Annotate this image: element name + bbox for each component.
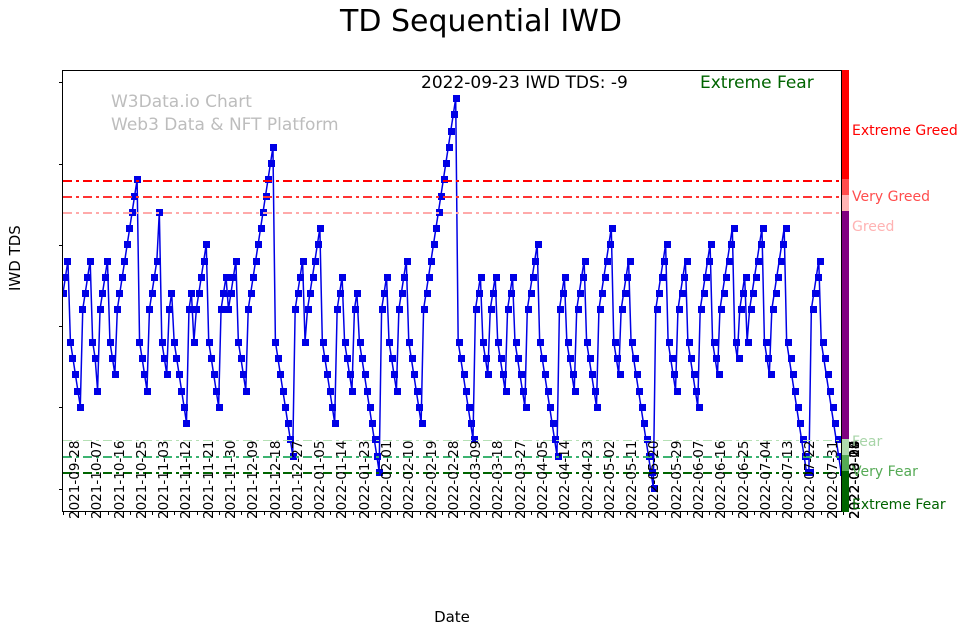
data-point (446, 144, 453, 151)
data-point (119, 274, 126, 281)
x-tick-mark (197, 511, 198, 515)
data-point (812, 290, 819, 297)
data-point (84, 274, 91, 281)
data-point (302, 339, 309, 346)
data-point (344, 355, 351, 362)
data-point (567, 355, 574, 362)
data-point (173, 355, 180, 362)
data-point (721, 290, 728, 297)
data-point (146, 306, 153, 313)
data-point (830, 404, 837, 411)
data-point (240, 371, 247, 378)
data-point (485, 371, 492, 378)
data-point (629, 339, 636, 346)
data-point (693, 388, 700, 395)
data-point (426, 274, 433, 281)
data-point (619, 306, 626, 313)
data-point (827, 388, 834, 395)
data-point (773, 290, 780, 297)
data-point (622, 290, 629, 297)
data-point (94, 388, 101, 395)
data-point (686, 339, 693, 346)
data-point (748, 306, 755, 313)
data-point (114, 306, 121, 313)
data-point (775, 274, 782, 281)
data-point (817, 258, 824, 265)
data-point (87, 258, 94, 265)
data-point (159, 339, 166, 346)
data-point (339, 274, 346, 281)
x-tick-mark (330, 511, 331, 515)
colorbar-segment (842, 471, 849, 512)
data-point (448, 128, 455, 135)
data-point (394, 388, 401, 395)
data-point (703, 274, 710, 281)
data-point (270, 144, 277, 151)
data-point (530, 274, 537, 281)
x-tick-label: 2022-02-19 (424, 441, 440, 519)
x-tick-label: 2022-01-14 (334, 441, 350, 519)
x-tick-mark (620, 511, 621, 515)
data-point (191, 339, 198, 346)
data-point (523, 404, 530, 411)
data-point (624, 274, 631, 281)
x-tick-mark (642, 511, 643, 515)
x-tick-mark (353, 511, 354, 515)
data-point (201, 258, 208, 265)
data-point (69, 355, 76, 362)
data-point (532, 258, 539, 265)
data-point (656, 290, 663, 297)
y-tick-mark (59, 489, 63, 490)
data-point (580, 274, 587, 281)
data-point (161, 355, 168, 362)
data-point (369, 420, 376, 427)
x-tick-mark (174, 511, 175, 515)
x-tick-mark (420, 511, 421, 515)
data-point (498, 355, 505, 362)
data-point (765, 355, 772, 362)
data-point (419, 420, 426, 427)
data-point (428, 258, 435, 265)
x-tick-label: 2022-03-09 (468, 441, 484, 519)
data-point (820, 339, 827, 346)
data-point (168, 290, 175, 297)
data-point (602, 274, 609, 281)
x-tick-mark (665, 511, 666, 515)
data-point (433, 225, 440, 232)
data-point (367, 404, 374, 411)
data-point (406, 339, 413, 346)
data-point (681, 274, 688, 281)
data-point (243, 388, 250, 395)
data-point (500, 371, 507, 378)
data-point (141, 371, 148, 378)
data-point (315, 241, 322, 248)
data-point (268, 160, 275, 167)
x-tick-mark (308, 511, 309, 515)
x-tick-label: 2022-05-29 (669, 441, 685, 519)
x-tick-mark (130, 511, 131, 515)
data-point (718, 306, 725, 313)
x-tick-label: 2022-05-20 (646, 441, 662, 519)
x-tick-label: 2022-05-11 (624, 441, 640, 519)
data-point (352, 306, 359, 313)
data-point (676, 306, 683, 313)
x-tick-label: 2022-02-10 (401, 441, 417, 519)
data-point (332, 420, 339, 427)
x-tick-label: 2022-07-04 (758, 441, 774, 519)
data-point (320, 339, 327, 346)
data-point (337, 290, 344, 297)
data-point (176, 371, 183, 378)
data-point (515, 355, 522, 362)
data-point (614, 355, 621, 362)
data-point (468, 420, 475, 427)
colorbar-segment (842, 439, 849, 455)
data-point (357, 339, 364, 346)
data-point (364, 388, 371, 395)
data-point (208, 355, 215, 362)
data-point (503, 388, 510, 395)
data-point (359, 355, 366, 362)
data-point (334, 306, 341, 313)
data-point (797, 420, 804, 427)
x-tick-label: 2022-03-27 (513, 441, 529, 519)
x-tick-label: 2021-11-12 (178, 441, 194, 519)
data-point (545, 388, 552, 395)
data-point (181, 404, 188, 411)
data-point (233, 258, 240, 265)
data-point (144, 388, 151, 395)
x-tick-mark (776, 511, 777, 515)
data-point (599, 290, 606, 297)
data-point (285, 420, 292, 427)
data-point (825, 371, 832, 378)
x-tick-label: 2021-12-27 (290, 441, 306, 519)
data-point (535, 241, 542, 248)
data-point (463, 388, 470, 395)
data-point (126, 225, 133, 232)
x-tick-label: 2022-05-02 (602, 441, 618, 519)
data-point (478, 274, 485, 281)
data-point (684, 258, 691, 265)
data-point (706, 258, 713, 265)
x-tick-mark (241, 511, 242, 515)
data-point (409, 355, 416, 362)
x-tick-mark (264, 511, 265, 515)
data-point (661, 258, 668, 265)
data-point (107, 339, 114, 346)
page-title: TD Sequential IWD (0, 4, 962, 39)
data-point (758, 241, 765, 248)
data-point (151, 274, 158, 281)
data-point (473, 306, 480, 313)
data-point (97, 306, 104, 313)
data-point (354, 290, 361, 297)
data-point (396, 306, 403, 313)
data-point (632, 355, 639, 362)
data-point (63, 274, 69, 281)
data-point (109, 355, 116, 362)
data-point (280, 388, 287, 395)
data-point (755, 258, 762, 265)
data-point (654, 306, 661, 313)
x-tick-label: 2022-02-28 (446, 441, 462, 519)
data-point (666, 339, 673, 346)
x-tick-mark (108, 511, 109, 515)
x-tick-mark (709, 511, 710, 515)
data-point (763, 339, 770, 346)
data-point (736, 355, 743, 362)
data-point (250, 274, 257, 281)
data-point (617, 371, 624, 378)
data-point (124, 241, 131, 248)
data-point (560, 290, 567, 297)
data-point (456, 339, 463, 346)
data-point (451, 111, 458, 118)
x-tick-label: 2021-09-28 (67, 441, 83, 519)
data-point (639, 404, 646, 411)
data-point (64, 258, 71, 265)
data-point (778, 258, 785, 265)
data-point (362, 371, 369, 378)
data-point (557, 306, 564, 313)
data-point (238, 355, 245, 362)
x-tick-label: 2021-10-16 (112, 441, 128, 519)
x-tick-label: 2022-04-05 (535, 441, 551, 519)
data-point (701, 290, 708, 297)
data-point (788, 355, 795, 362)
data-point (72, 371, 79, 378)
data-point (612, 339, 619, 346)
data-point (547, 404, 554, 411)
x-tick-label: 2022-04-14 (557, 441, 573, 519)
data-point (431, 241, 438, 248)
data-point (312, 258, 319, 265)
data-point (218, 306, 225, 313)
x-tick-label: 2022-07-31 (825, 441, 841, 519)
zone-label-fear: Fear (852, 434, 882, 450)
data-point (743, 274, 750, 281)
data-point (510, 274, 517, 281)
y-tick-mark (59, 326, 63, 327)
data-point (542, 371, 549, 378)
data-point (711, 339, 718, 346)
data-point (716, 371, 723, 378)
data-point (305, 306, 312, 313)
data-point (112, 371, 119, 378)
x-tick-mark (576, 511, 577, 515)
data-point (466, 404, 473, 411)
x-tick-label: 2021-11-21 (201, 441, 217, 519)
x-tick-mark (531, 511, 532, 515)
y-tick-mark (59, 407, 63, 408)
data-point (795, 404, 802, 411)
data-point (604, 258, 611, 265)
data-point (411, 371, 418, 378)
data-point (253, 258, 260, 265)
data-point (136, 339, 143, 346)
data-point (575, 306, 582, 313)
data-point (198, 274, 205, 281)
data-point (698, 306, 705, 313)
data-point (708, 241, 715, 248)
data-point (669, 355, 676, 362)
data-point (255, 241, 262, 248)
x-tick-mark (152, 511, 153, 515)
data-point (307, 290, 314, 297)
data-point (171, 339, 178, 346)
data-point (342, 339, 349, 346)
data-point (733, 339, 740, 346)
data-point (206, 339, 213, 346)
data-point (740, 290, 747, 297)
data-point (258, 225, 265, 232)
x-tick-label: 2022-01-05 (312, 441, 328, 519)
data-point (483, 355, 490, 362)
data-point (381, 290, 388, 297)
data-point (67, 339, 74, 346)
data-point (193, 306, 200, 313)
zone-label-very-fear: Very Fear (852, 464, 918, 480)
zone-label-extreme-fear: Extreme Fear (852, 497, 946, 513)
x-tick-mark (486, 511, 487, 515)
data-point (495, 339, 502, 346)
data-point (488, 306, 495, 313)
data-point (389, 355, 396, 362)
data-point (89, 339, 96, 346)
x-tick-label: 2022-06-25 (736, 441, 752, 519)
x-tick-label: 2021-12-09 (245, 441, 261, 519)
x-tick-label: 2022-03-18 (490, 441, 506, 519)
data-point (476, 290, 483, 297)
colorbar-segment (842, 455, 849, 471)
data-point (458, 355, 465, 362)
data-point (525, 306, 532, 313)
data-point (664, 241, 671, 248)
data-point (295, 290, 302, 297)
data-point (421, 306, 428, 313)
data-point (770, 306, 777, 313)
x-tick-label: 2022-01-23 (357, 441, 373, 519)
data-point (609, 225, 616, 232)
data-point (594, 404, 601, 411)
data-point (399, 290, 406, 297)
x-tick-mark (375, 511, 376, 515)
data-point (572, 388, 579, 395)
y-tick-mark (59, 164, 63, 165)
data-point (760, 225, 767, 232)
data-point (121, 258, 128, 265)
data-point (493, 274, 500, 281)
x-tick-mark (553, 511, 554, 515)
data-point (248, 290, 255, 297)
data-point (329, 404, 336, 411)
data-point (577, 290, 584, 297)
y-tick-mark (59, 82, 63, 83)
data-point (349, 388, 356, 395)
data-point (102, 274, 109, 281)
data-point (607, 241, 614, 248)
data-point (235, 339, 242, 346)
data-point (391, 371, 398, 378)
data-point (822, 355, 829, 362)
x-tick-mark (286, 511, 287, 515)
x-tick-label: 2021-12-18 (268, 441, 284, 519)
data-point (453, 95, 460, 102)
data-point (768, 371, 775, 378)
data-point (154, 258, 161, 265)
data-point (416, 404, 423, 411)
data-point (327, 388, 334, 395)
colorbar-segment (842, 195, 849, 211)
data-point (149, 290, 156, 297)
data-point (245, 306, 252, 313)
x-tick-label: 2022-06-16 (713, 441, 729, 519)
x-tick-label: 2022-04-23 (580, 441, 596, 519)
data-point (480, 339, 487, 346)
x-tick-mark (798, 511, 799, 515)
data-point (815, 274, 822, 281)
data-point (443, 160, 450, 167)
x-tick-label: 2022-02-01 (379, 441, 395, 519)
data-point (82, 290, 89, 297)
data-point (188, 290, 195, 297)
data-point (77, 404, 84, 411)
data-point (641, 420, 648, 427)
data-point (597, 306, 604, 313)
data-point (292, 306, 299, 313)
data-point (627, 258, 634, 265)
data-point (589, 371, 596, 378)
data-point (211, 371, 218, 378)
data-point (513, 339, 520, 346)
data-point (520, 388, 527, 395)
data-point (562, 274, 569, 281)
zone-label-greed: Greed (852, 219, 894, 235)
x-tick-mark (63, 511, 64, 515)
data-point (726, 258, 733, 265)
data-point (738, 306, 745, 313)
data-point (528, 290, 535, 297)
y-axis-label: IWD TDS (6, 225, 24, 291)
colorbar-segment (842, 211, 849, 439)
data-point (104, 258, 111, 265)
data-point (691, 371, 698, 378)
data-point (272, 339, 279, 346)
x-tick-mark (509, 511, 510, 515)
x-tick-label: 2021-11-30 (223, 441, 239, 519)
x-tick-label: 2022-06-07 (691, 441, 707, 519)
data-point (297, 274, 304, 281)
data-point (785, 339, 792, 346)
data-point (230, 274, 237, 281)
data-point (74, 388, 81, 395)
data-point (570, 371, 577, 378)
data-point (518, 371, 525, 378)
data-point (780, 241, 787, 248)
data-point (300, 258, 307, 265)
data-point (461, 371, 468, 378)
colorbar-segment (842, 179, 849, 195)
data-point (671, 371, 678, 378)
data-point (696, 404, 703, 411)
data-point (810, 306, 817, 313)
x-tick-mark (754, 511, 755, 515)
data-point (592, 388, 599, 395)
data-point (659, 274, 666, 281)
